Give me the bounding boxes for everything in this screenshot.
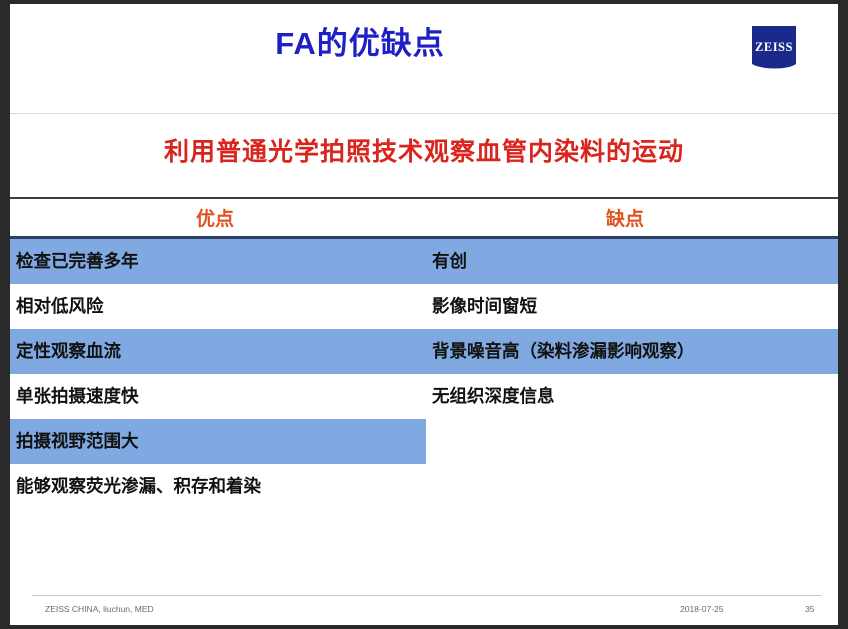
cell-con: 无组织深度信息 — [432, 374, 832, 419]
cell-pro: 拍摄视野范围大 — [16, 419, 426, 464]
footer-page-number: 35 — [805, 604, 814, 614]
cell-con — [432, 419, 832, 464]
cell-pro: 单张拍摄速度快 — [16, 374, 426, 419]
table-row: 相对低风险影像时间窗短 — [10, 284, 838, 329]
subtitle-band: 利用普通光学拍照技术观察血管内染料的运动 — [10, 114, 838, 197]
footer-credit: ZEISS CHINA, liuchun, MED — [45, 604, 154, 614]
svg-text:ZEISS: ZEISS — [755, 40, 793, 54]
table-row: 检查已完善多年有创 — [10, 239, 838, 284]
slide-header: FA的优缺点 ZEISS — [10, 4, 838, 113]
slide-canvas: FA的优缺点 ZEISS 利用普通光学拍照技术观察血管内染料的运动 优点 缺点 … — [0, 0, 848, 629]
footer-divider — [32, 595, 822, 596]
cell-con — [432, 464, 832, 509]
cell-con: 背景噪音高（染料渗漏影响观察） — [432, 329, 832, 374]
zeiss-logo: ZEISS — [748, 24, 800, 76]
column-header-pros: 优点 — [196, 204, 234, 231]
slide-footer: ZEISS CHINA, liuchun, MED 2018-07-25 35 — [10, 600, 838, 622]
page-title: FA的优缺点 — [10, 18, 710, 63]
cell-con: 有创 — [432, 239, 832, 284]
table-row: 能够观察荧光渗漏、积存和着染 — [10, 464, 838, 509]
cell-pro: 能够观察荧光渗漏、积存和着染 — [16, 464, 426, 509]
table-row: 单张拍摄速度快无组织深度信息 — [10, 374, 838, 419]
footer-date: 2018-07-25 — [680, 604, 723, 614]
comparison-table: 检查已完善多年有创相对低风险影像时间窗短定性观察血流背景噪音高（染料渗漏影响观察… — [10, 239, 838, 509]
subtitle-divider — [10, 197, 838, 199]
table-row: 拍摄视野范围大 — [10, 419, 838, 464]
cell-pro: 检查已完善多年 — [16, 239, 426, 284]
column-header-cons: 缺点 — [606, 204, 644, 231]
cell-pro: 相对低风险 — [16, 284, 426, 329]
cell-pro: 定性观察血流 — [16, 329, 426, 374]
table-column-headers: 优点 缺点 — [10, 200, 838, 236]
table-row: 定性观察血流背景噪音高（染料渗漏影响观察） — [10, 329, 838, 374]
subtitle-text: 利用普通光学拍照技术观察血管内染料的运动 — [10, 132, 838, 168]
slide-page: FA的优缺点 ZEISS 利用普通光学拍照技术观察血管内染料的运动 优点 缺点 … — [10, 4, 838, 625]
cell-con: 影像时间窗短 — [432, 284, 832, 329]
